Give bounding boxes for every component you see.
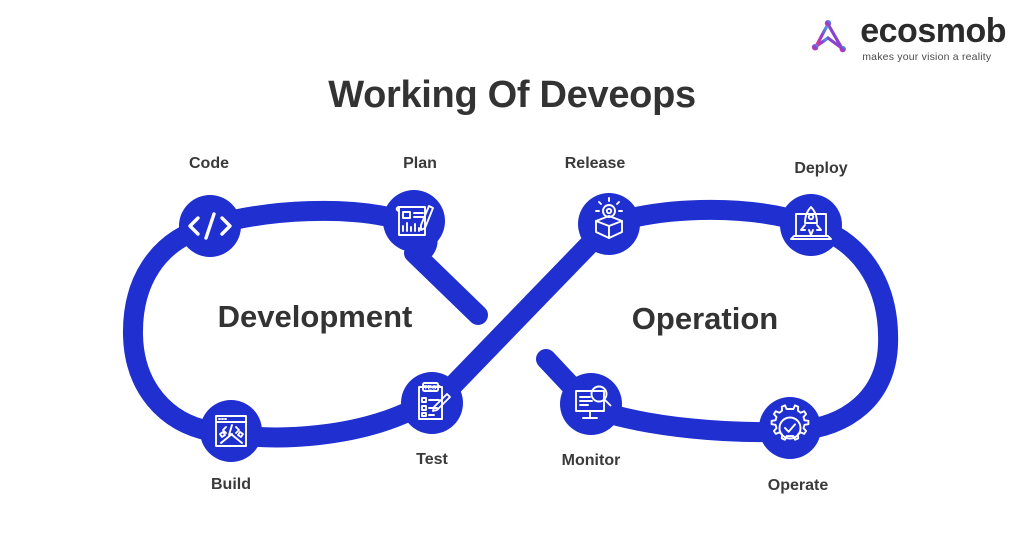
node-monitor[interactable]: [560, 373, 622, 435]
node-plan[interactable]: [383, 190, 445, 252]
node-build[interactable]: [200, 400, 262, 462]
node-operate[interactable]: [759, 397, 821, 459]
page-title: Working Of Deveops: [0, 74, 1024, 117]
node-operate-circle[interactable]: [759, 397, 821, 459]
brand-tagline: makes your vision a reality: [862, 52, 1006, 63]
phase-label-development: Development: [218, 299, 413, 335]
node-code[interactable]: [179, 195, 241, 257]
node-test-circle[interactable]: [401, 372, 463, 434]
node-label-release: Release: [565, 155, 626, 173]
node-release-circle[interactable]: [578, 193, 640, 255]
infinity-loop-svg: TEST: [0, 135, 1024, 515]
node-monitor-circle[interactable]: [560, 373, 622, 435]
node-deploy[interactable]: [780, 194, 842, 256]
brand-logo: ecosmob makes your vision a reality: [805, 14, 1006, 63]
node-label-monitor: Monitor: [562, 452, 621, 470]
node-label-test: Test: [416, 451, 448, 469]
brand-name: ecosmob: [860, 14, 1006, 48]
node-label-code: Code: [189, 155, 229, 173]
node-release[interactable]: [578, 193, 640, 255]
brand-text: ecosmob makes your vision a reality: [860, 14, 1006, 63]
node-label-plan: Plan: [403, 155, 437, 173]
test-icon-caption: TEST: [424, 385, 441, 392]
node-test[interactable]: TEST: [401, 372, 463, 434]
node-label-deploy: Deploy: [794, 160, 847, 178]
node-label-build: Build: [211, 476, 251, 494]
devops-loop-diagram: TEST: [0, 135, 1024, 515]
node-plan-circle[interactable]: [383, 190, 445, 252]
phase-label-operation: Operation: [632, 301, 778, 337]
development-ring-left-path: [133, 226, 210, 431]
ecosmob-tri-node-logo-icon: [805, 15, 851, 61]
node-deploy-circle[interactable]: [780, 194, 842, 256]
devops-infographic-page: ecosmob makes your vision a reality Work…: [0, 0, 1024, 537]
node-label-operate: Operate: [768, 477, 828, 495]
plan-stub-path: [414, 253, 478, 315]
